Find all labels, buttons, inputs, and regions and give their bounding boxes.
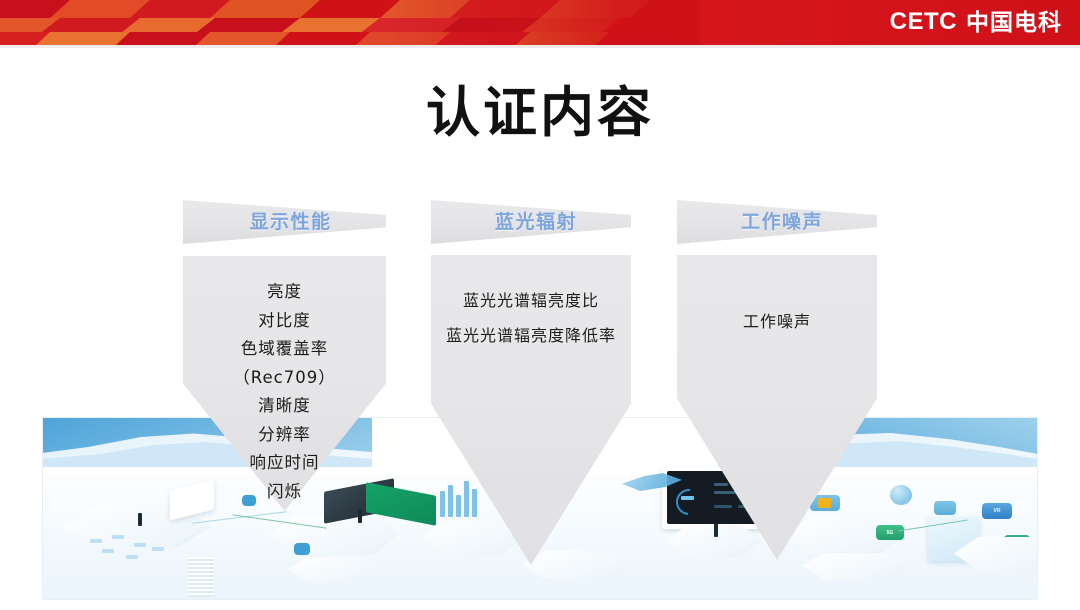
ribbon-label-3: 工作噪声: [677, 207, 877, 234]
funnel-item: 蓝光光谱辐亮度比: [431, 283, 631, 318]
funnel-item: 工作噪声: [677, 308, 877, 337]
funnel-item: 亮度: [183, 278, 386, 307]
funnel-item: 响应时间: [183, 449, 386, 478]
slide-root: CETC 中国电科 认证内容: [0, 0, 1080, 610]
funnel-item: 清晰度: [183, 392, 386, 421]
funnel-item: 闪烁: [183, 478, 386, 507]
funnel-item-list-3: 工作噪声: [677, 308, 877, 337]
funnel-shape-3: [677, 255, 877, 560]
ribbon-label-1: 显示性能: [183, 207, 386, 234]
funnel-item: （Rec709）: [183, 364, 386, 393]
funnel-item: 分辨率: [183, 421, 386, 450]
funnel-item: 对比度: [183, 307, 386, 336]
funnel-item: 蓝光光谱辐亮度降低率: [431, 318, 631, 353]
funnel-item: 色域覆盖率: [183, 335, 386, 364]
funnel-item-list-2: 蓝光光谱辐亮度比 蓝光光谱辐亮度降低率: [431, 283, 631, 353]
funnel-item-list-1: 亮度 对比度 色域覆盖率 （Rec709） 清晰度 分辨率 响应时间 闪烁: [183, 278, 386, 506]
ribbon-label-2: 蓝光辐射: [431, 207, 631, 234]
funnel-group: 显示性能 亮度 对比度 色域覆盖率 （Rec709） 清晰度 分辨率 响应时间 …: [0, 0, 1080, 610]
